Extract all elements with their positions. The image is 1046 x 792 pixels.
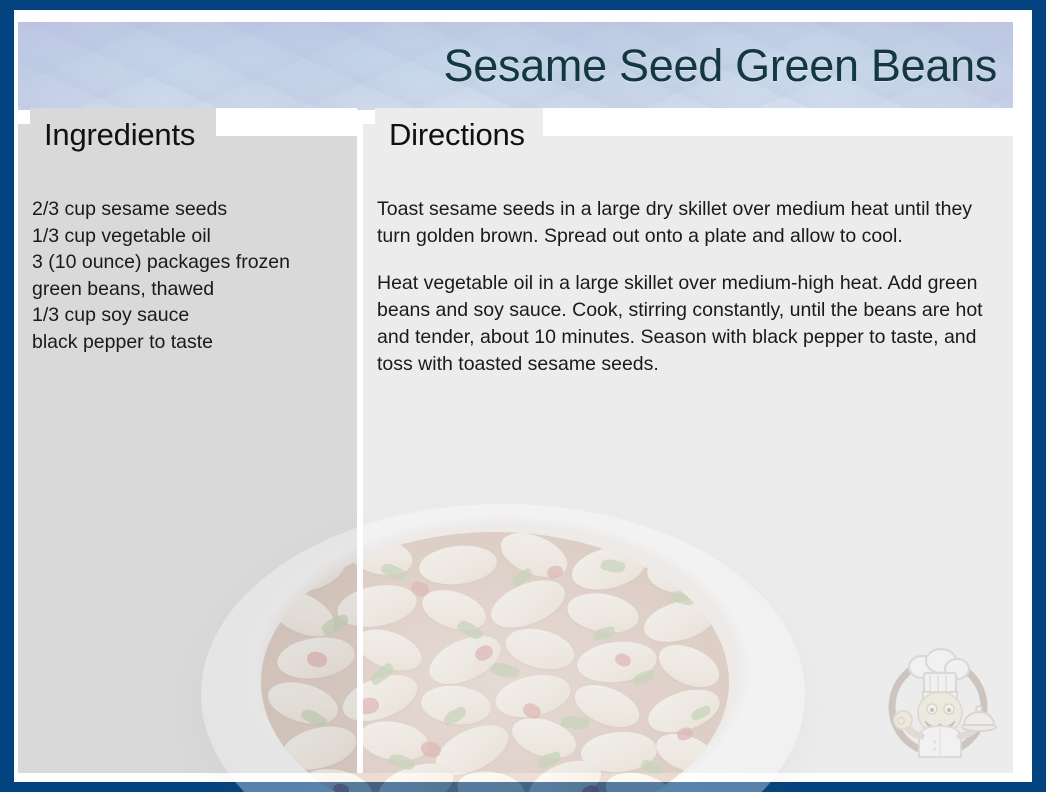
ingredients-tab-notch <box>216 108 357 136</box>
ingredient-item: 1/3 cup vegetable oil <box>32 223 344 250</box>
ingredient-item: 1/3 cup soy sauce <box>32 302 344 329</box>
direction-step: Toast sesame seeds in a large dry skille… <box>377 196 999 250</box>
directions-heading: Directions <box>389 119 525 150</box>
chef-mascot-logo <box>875 637 1001 763</box>
recipe-card: Sesame Seed Green Beans <box>0 0 1046 792</box>
page-title: Sesame Seed Green Beans <box>444 40 997 92</box>
ingredients-panel: Ingredients 2/3 cup sesame seeds 1/3 cup… <box>18 124 357 773</box>
ingredient-item: black pepper to taste <box>32 329 344 356</box>
directions-tab: Directions <box>375 108 543 160</box>
ingredients-list: 2/3 cup sesame seeds 1/3 cup vegetable o… <box>32 196 344 355</box>
title-banner: Sesame Seed Green Beans <box>18 22 1013 110</box>
panel-divider <box>357 124 363 773</box>
ingredient-item: 3 (10 ounce) packages frozen <box>32 249 344 276</box>
directions-body: Toast sesame seeds in a large dry skille… <box>377 196 999 378</box>
ingredient-item: green beans, thawed <box>32 276 344 303</box>
content-area: Ingredients 2/3 cup sesame seeds 1/3 cup… <box>18 124 1013 773</box>
ingredients-tab: Ingredients <box>30 108 216 160</box>
directions-tab-notch <box>543 108 1013 136</box>
ingredient-item: 2/3 cup sesame seeds <box>32 196 344 223</box>
direction-step: Heat vegetable oil in a large skillet ov… <box>377 270 999 378</box>
ingredients-heading: Ingredients <box>44 119 195 150</box>
